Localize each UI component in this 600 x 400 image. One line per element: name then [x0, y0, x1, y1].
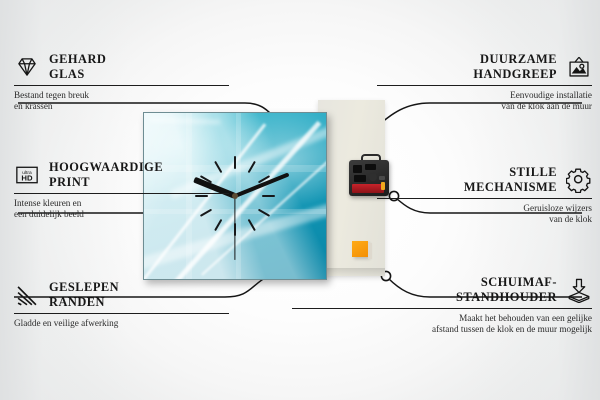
feature-title: STILLE MECHANISME — [464, 165, 557, 194]
foam-spacer — [352, 241, 368, 257]
feature-divider — [292, 308, 592, 309]
feature-title: DUURZAME HANDGREEP — [473, 52, 557, 81]
feature-title: HOOGWAARDIGE PRINT — [49, 160, 163, 189]
gear-icon — [566, 167, 592, 193]
feature-divider — [14, 313, 229, 314]
feature-title: SCHUIMAF- STANDHOUDER — [456, 275, 557, 304]
diamond-icon — [14, 54, 40, 80]
infographic-canvas: GEHARD GLAS Bestand tegen breuk en krass… — [0, 0, 600, 400]
ultra-hd-icon: ultra HD — [14, 162, 40, 188]
feature-description: Eenvoudige installatie van de klok aan d… — [377, 90, 592, 112]
feature-description: Intense kleuren en een duidelijk beeld — [14, 198, 229, 220]
feature-description: Maakt het behouden van een gelijke afsta… — [292, 313, 592, 335]
diagonal-lines-icon — [14, 282, 40, 308]
svg-text:HD: HD — [21, 173, 33, 182]
feature-divider — [377, 85, 592, 86]
feature-geslepen-randen[interactable]: GESLEPEN RANDEN Gladde en veilige afwerk… — [14, 280, 229, 329]
feature-divider — [14, 85, 229, 86]
feature-duurzame-handgreep[interactable]: DUURZAME HANDGREEP Eenvoudige installati… — [377, 52, 592, 112]
feature-title: GESLEPEN RANDEN — [49, 280, 119, 309]
feature-gehard-glas[interactable]: GEHARD GLAS Bestand tegen breuk en krass… — [14, 52, 229, 112]
arrow-down-onto-pad-icon — [566, 277, 592, 303]
hanging-picture-frame-icon — [566, 54, 592, 80]
feature-schuimafstandhouder[interactable]: SCHUIMAF- STANDHOUDER Maakt het behouden… — [292, 275, 592, 335]
clock-center-cap — [232, 193, 238, 199]
feature-description: Gladde en veilige afwerking — [14, 318, 229, 329]
feature-description: Geruisloze wijzers van de klok — [377, 203, 592, 225]
feature-stille-mechanisme[interactable]: STILLE MECHANISME Geruisloze wijzers van… — [377, 165, 592, 225]
feature-hoogwaardige-print[interactable]: ultra HD HOOGWAARDIGE PRINT Intense kleu… — [14, 160, 229, 220]
feature-description: Bestand tegen breuk en krassen — [14, 90, 229, 112]
feature-title: GEHARD GLAS — [49, 52, 106, 81]
feature-divider — [377, 198, 592, 199]
feature-divider — [14, 193, 229, 194]
